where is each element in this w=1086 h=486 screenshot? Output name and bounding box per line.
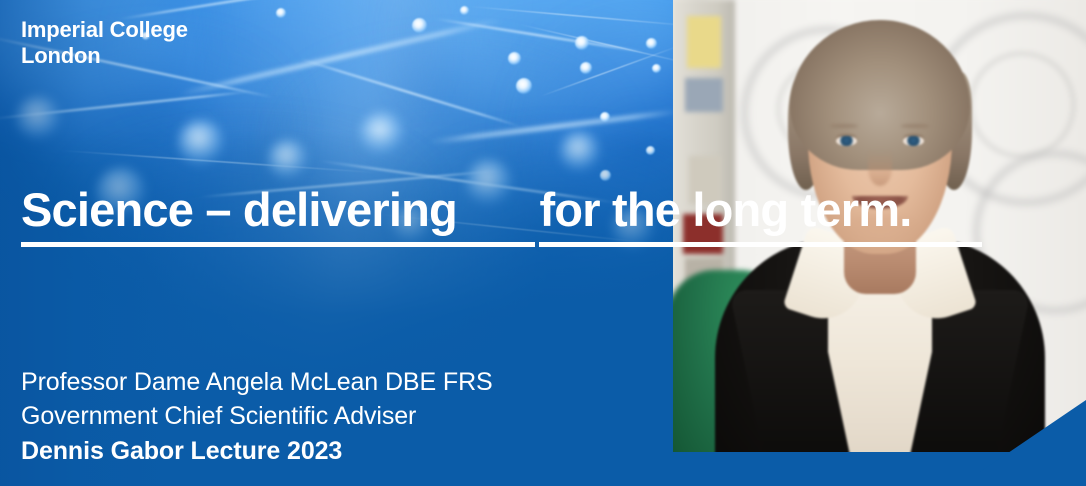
lecture-name: Dennis Gabor Lecture 2023 (21, 434, 493, 468)
network-node (600, 112, 610, 122)
portrait-eyebrow-left (830, 124, 858, 128)
speaker-name: Professor Dame Angela McLean DBE FRS (21, 365, 493, 399)
network-node (646, 38, 657, 49)
portrait-nose (868, 150, 892, 186)
backdrop-shelf-item (687, 16, 721, 68)
backdrop-crest (969, 52, 1075, 158)
network-node (575, 36, 589, 50)
imperial-college-london-logo: Imperial College London (21, 17, 188, 68)
page-title-line-2: for the long term. (539, 186, 982, 247)
portrait-eye-right (903, 136, 924, 146)
network-node (412, 18, 427, 33)
network-node (460, 6, 469, 15)
network-node (508, 52, 521, 65)
network-node (652, 64, 661, 73)
network-node (580, 62, 592, 74)
portrait-eye-left (836, 136, 857, 146)
speaker-role: Government Chief Scientific Adviser (21, 399, 493, 433)
backdrop-shelf-item (685, 78, 723, 112)
network-node (516, 78, 532, 94)
lecture-title-slide: Imperial College London Science – delive… (0, 0, 1086, 486)
portrait-eyebrow-right (901, 124, 929, 128)
network-node (276, 8, 286, 18)
page-title: Science – delivering for the long term. (21, 186, 982, 260)
page-title-line-1: Science – delivering (21, 186, 535, 247)
speaker-details: Professor Dame Angela McLean DBE FRS Gov… (21, 365, 493, 468)
